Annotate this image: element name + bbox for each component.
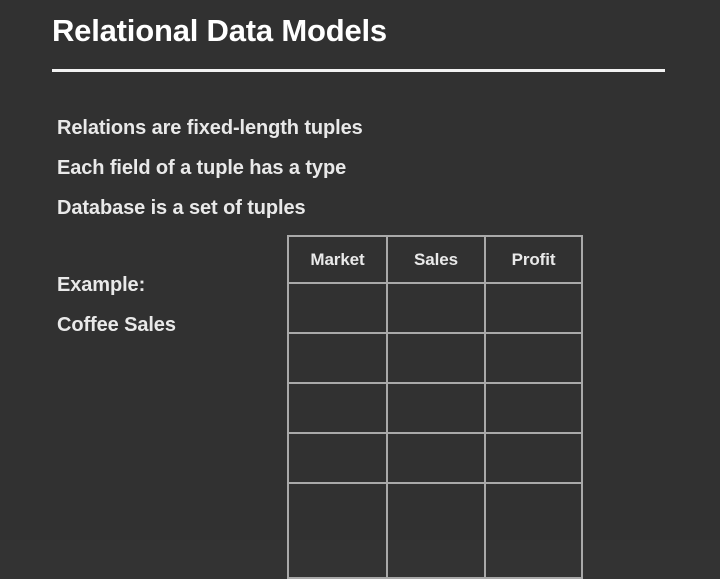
table-cell xyxy=(485,483,582,578)
table-cell xyxy=(288,283,387,333)
table-header-row: Market Sales Profit xyxy=(288,236,582,283)
table-row xyxy=(288,283,582,333)
table-cell xyxy=(387,333,485,383)
table-cell xyxy=(387,483,485,578)
table-cell xyxy=(485,433,582,483)
table-cell xyxy=(485,383,582,433)
table-cell xyxy=(387,433,485,483)
slide-canvas: Relational Data Models Relations are fix… xyxy=(0,0,720,540)
table-cell xyxy=(485,283,582,333)
table-body xyxy=(288,283,582,578)
table-cell xyxy=(288,333,387,383)
table-row xyxy=(288,433,582,483)
body-line-2: Each field of a tuple has a type xyxy=(57,148,497,188)
body-line-3: Database is a set of tuples xyxy=(57,188,497,228)
table-row xyxy=(288,383,582,433)
table-header: Market Sales Profit xyxy=(288,236,582,283)
table-cell xyxy=(387,383,485,433)
table-cell xyxy=(288,383,387,433)
table-row xyxy=(288,333,582,383)
example-caption-block: Example: Coffee Sales xyxy=(57,265,277,345)
body-line-1: Relations are fixed-length tuples xyxy=(57,108,497,148)
example-label: Example: xyxy=(57,265,277,305)
title-divider xyxy=(52,69,665,72)
column-header-market: Market xyxy=(288,236,387,283)
table-cell xyxy=(288,483,387,578)
title-block: Relational Data Models xyxy=(52,14,666,47)
relation-table: Market Sales Profit xyxy=(287,235,583,579)
column-header-profit: Profit xyxy=(485,236,582,283)
table-cell xyxy=(485,333,582,383)
table-cell xyxy=(387,283,485,333)
table-cell xyxy=(288,433,387,483)
column-header-sales: Sales xyxy=(387,236,485,283)
page-title: Relational Data Models xyxy=(52,14,666,47)
table-row xyxy=(288,483,582,578)
body-text-block: Relations are fixed-length tuples Each f… xyxy=(57,108,497,228)
example-subject: Coffee Sales xyxy=(57,305,277,345)
